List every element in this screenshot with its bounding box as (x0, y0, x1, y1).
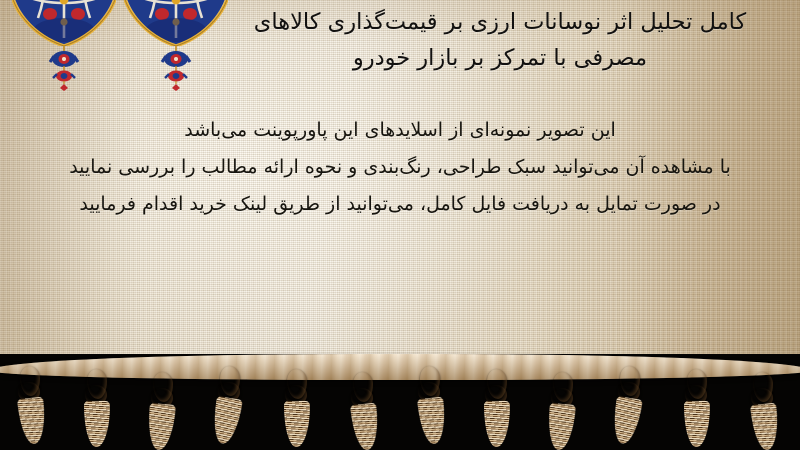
tassel (212, 360, 248, 444)
tassel-skirt (546, 403, 576, 450)
tassel-skirt (417, 397, 448, 445)
slide-title: کامل تحلیل اثر نوسانات ارزی بر قیمت‌گذار… (220, 4, 780, 77)
tassel-skirt (84, 401, 110, 447)
carpet-fringe-tassels (0, 354, 800, 450)
persian-medallion-ornament (12, 0, 116, 46)
tassel-skirt (610, 396, 643, 446)
presentation-slide: کامل تحلیل اثر نوسانات ارزی بر قیمت‌گذار… (0, 0, 800, 450)
tassel-skirt (750, 403, 781, 450)
tassel (479, 363, 515, 447)
tassel (612, 360, 648, 444)
tassel-skirt (284, 401, 310, 447)
slide-title-line-2: مصرفی با تمرکز بر بازار خودرو (220, 40, 780, 76)
tassel (545, 366, 581, 450)
tassel-skirt (484, 401, 510, 447)
tassel-skirt (350, 403, 381, 450)
tassel-skirt (17, 397, 48, 445)
tassel (79, 363, 115, 447)
slide-title-line-1: کامل تحلیل اثر نوسانات ارزی بر قیمت‌گذار… (220, 4, 780, 40)
tassel-skirt (684, 401, 710, 447)
tassel (279, 363, 315, 447)
tassel (145, 366, 181, 450)
ornament-group (6, 0, 236, 92)
body-line-1: این تصویر نمونه‌ای از اسلایدهای این پاور… (18, 112, 782, 149)
body-line-2: با مشاهده آن می‌توانید سبک طراحی، رنگ‌بن… (18, 149, 782, 186)
tassel (12, 360, 48, 444)
tassel (745, 366, 781, 450)
persian-medallion-ornament (124, 0, 228, 46)
medallion-pendant-ornament (159, 45, 193, 91)
tassel-skirt (146, 403, 176, 450)
tassel (345, 366, 381, 450)
body-line-3: در صورت تمایل به دریافت فایل کامل، می‌تو… (18, 186, 782, 223)
medallion-pendant-ornament (47, 45, 81, 91)
tassel-skirt (210, 396, 243, 446)
slide-body-text: این تصویر نمونه‌ای از اسلایدهای این پاور… (18, 112, 782, 223)
tassel (412, 360, 448, 444)
tassel (679, 363, 715, 447)
